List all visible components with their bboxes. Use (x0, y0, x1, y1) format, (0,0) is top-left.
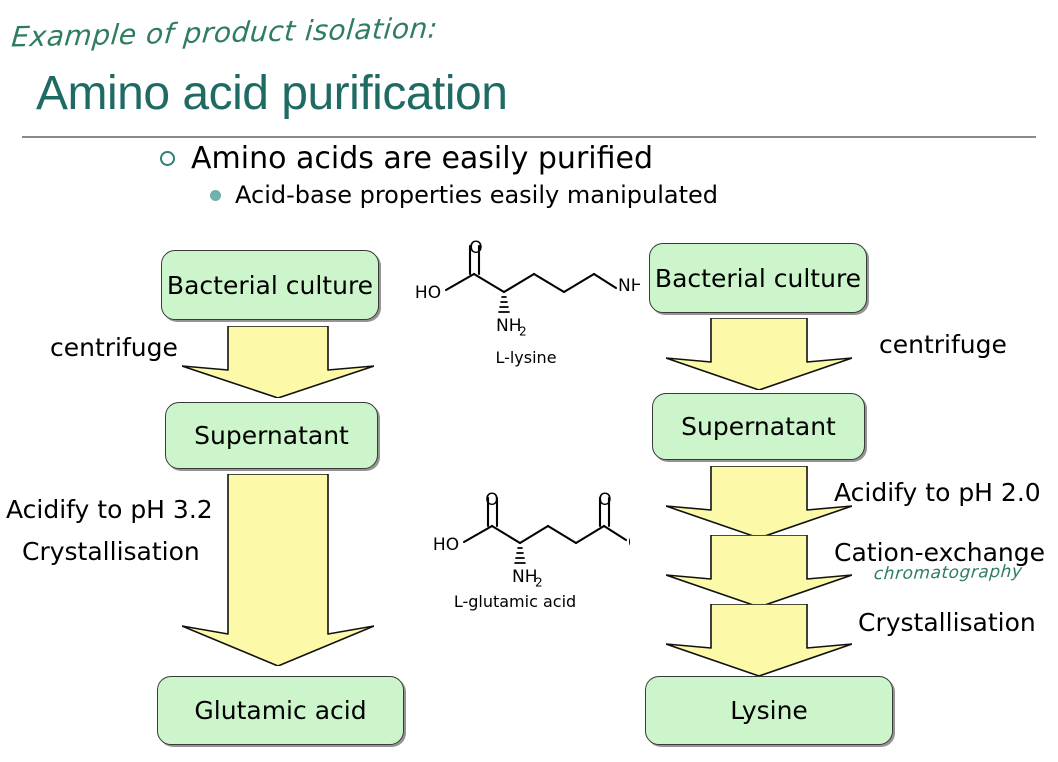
right-label-crystallisation: Crystallisation (858, 608, 1036, 637)
svg-text:NH: NH (512, 567, 538, 587)
right-label-chromatography-handwritten: chromatography (873, 562, 1023, 585)
l-lysine-structure: O HO NH 2 NH 2 (412, 234, 640, 344)
title-divider (22, 136, 1036, 138)
svg-text:O: O (598, 490, 611, 510)
svg-text:O: O (469, 238, 482, 258)
bullet-item-2-label: Acid-base properties easily manipulated (235, 181, 718, 209)
right-flow-box-lysine-label: Lysine (730, 696, 808, 725)
right-flow-arrow-crystallisation (666, 604, 852, 676)
l-glutamic-acid-structure: O O HO OH NH 2 (420, 480, 630, 590)
hollow-circle-marker-icon (160, 151, 175, 166)
l-lysine-caption: L-lysine (412, 348, 640, 367)
handwritten-heading: Example of product isolation: (10, 12, 439, 54)
svg-text:NH: NH (496, 316, 522, 336)
bullet-item-2: Acid-base properties easily manipulated (210, 181, 718, 209)
right-label-centrifuge: centrifuge (879, 330, 1007, 359)
svg-text:2: 2 (519, 325, 527, 339)
left-label-acidify: Acidify to pH 3.2 (6, 495, 213, 524)
svg-text:NH: NH (618, 276, 640, 296)
bullet-item-1: Amino acids are easily purified (160, 141, 653, 176)
left-flow-box-supernatant: Supernatant (165, 402, 378, 469)
svg-text:HO: HO (433, 535, 459, 555)
svg-text:O: O (485, 490, 498, 510)
bullet-item-1-label: Amino acids are easily purified (191, 141, 653, 176)
filled-dot-marker-icon (210, 190, 221, 201)
svg-text:HO: HO (415, 283, 441, 303)
right-flow-arrow-acidify (666, 466, 852, 538)
right-flow-box-bacterial-culture-label: Bacterial culture (655, 264, 861, 293)
right-flow-box-lysine: Lysine (645, 676, 893, 745)
left-flow-box-glutamic-acid: Glutamic acid (157, 676, 404, 745)
left-flow-box-glutamic-acid-label: Glutamic acid (194, 696, 366, 725)
right-label-acidify: Acidify to pH 2.0 (834, 478, 1041, 507)
left-label-crystallisation: Crystallisation (22, 537, 200, 566)
left-flow-box-bacterial-culture: Bacterial culture (161, 250, 379, 320)
left-flow-box-bacterial-culture-label: Bacterial culture (167, 271, 373, 300)
right-flow-arrow-centrifuge (666, 318, 852, 390)
left-label-centrifuge: centrifuge (50, 333, 178, 362)
right-flow-arrow-cation-exchange (666, 535, 852, 607)
left-flow-arrow-centrifuge (182, 326, 374, 398)
page-title: Amino acid purification (36, 66, 507, 121)
left-flow-box-supernatant-label: Supernatant (194, 421, 349, 450)
svg-text:OH: OH (628, 533, 630, 553)
right-flow-box-supernatant-label: Supernatant (681, 412, 836, 441)
svg-text:2: 2 (535, 576, 543, 590)
right-flow-box-supernatant: Supernatant (652, 393, 865, 460)
right-flow-box-bacterial-culture: Bacterial culture (649, 243, 867, 313)
l-glutamic-acid-caption: L-glutamic acid (400, 592, 630, 611)
